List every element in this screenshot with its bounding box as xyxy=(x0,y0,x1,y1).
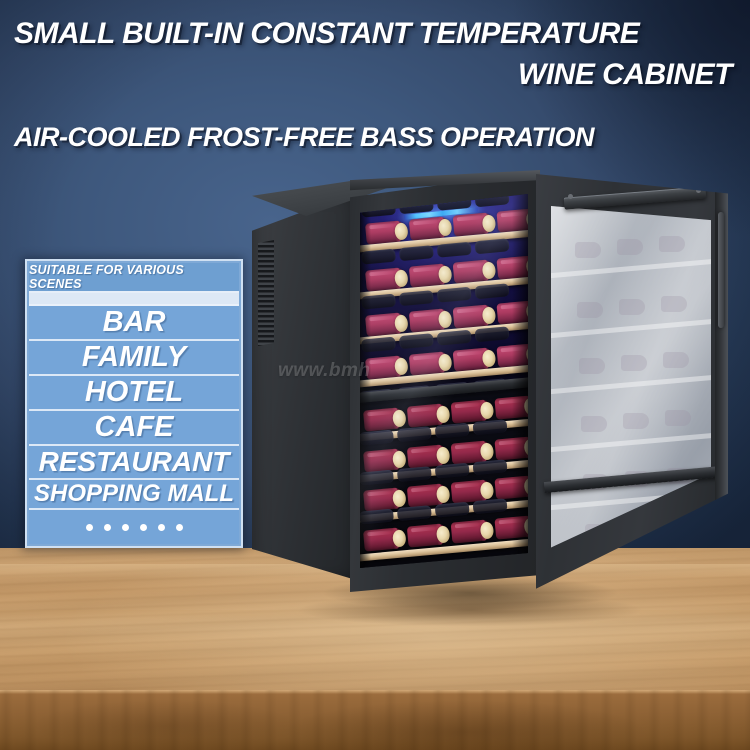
bottle-cap-icon xyxy=(436,405,450,423)
door-handle-bracket-icon xyxy=(696,188,701,193)
wine-bottle xyxy=(365,312,407,337)
bottle-cap-icon xyxy=(480,442,494,460)
bottle-cap-icon xyxy=(438,352,452,370)
door-ghost-bottle xyxy=(661,296,687,312)
scene-item-shopping-mall: SHOPPING MALL xyxy=(29,480,239,510)
interior-right-shading xyxy=(512,194,528,568)
ellipsis-dot-icon xyxy=(86,524,93,531)
cabinet-glass-door[interactable] xyxy=(536,174,728,606)
bottle-cap-icon xyxy=(438,218,452,236)
wine-bottle-back xyxy=(473,459,508,475)
bottle-highlight xyxy=(369,358,393,364)
bottle-highlight xyxy=(413,219,437,225)
ellipsis-dot-icon xyxy=(176,524,183,531)
ellipsis-dot-icon xyxy=(140,524,147,531)
door-ghost-bottle xyxy=(665,410,691,426)
bottle-highlight xyxy=(413,311,437,317)
scene-label: FAMILY xyxy=(82,343,186,372)
wine-bottle xyxy=(407,523,449,548)
wine-bottle-back xyxy=(397,427,432,443)
wine-bottle-back xyxy=(435,462,470,478)
scenes-panel-header: SUITABLE FOR VARIOUS SCENES xyxy=(29,263,239,293)
bottle-cap-icon xyxy=(436,524,450,542)
bottle-cap-icon xyxy=(482,348,496,366)
bottle-cap-icon xyxy=(438,309,452,327)
wine-bottle-back xyxy=(473,498,508,514)
headline-primary: SMALL BUILT-IN CONSTANT TEMPERATURE xyxy=(14,17,639,51)
scene-label: CAFE xyxy=(95,413,174,442)
wine-bottle-back xyxy=(475,283,510,299)
wine-bottle-back xyxy=(397,466,432,482)
door-ghost-bottle xyxy=(621,355,647,371)
headline-product-name: WINE CABINET xyxy=(518,58,732,92)
wine-bottle-back xyxy=(475,326,510,342)
scene-label: BAR xyxy=(103,308,166,337)
wine-bottle xyxy=(451,519,493,544)
bottle-cap-icon xyxy=(394,222,408,240)
wine-bottle xyxy=(451,399,493,424)
bottle-cap-icon xyxy=(438,265,452,283)
wine-bottle xyxy=(453,259,495,284)
wine-bottle xyxy=(453,304,495,329)
door-ghost-bottle xyxy=(577,302,603,318)
bottle-highlight xyxy=(457,307,481,313)
wine-bottle xyxy=(453,347,495,372)
scenes-panel-header-label: SUITABLE FOR VARIOUS SCENES xyxy=(29,263,239,291)
wine-bottle-back xyxy=(399,333,434,349)
bottle-highlight xyxy=(369,315,393,321)
headline-feature: AIR-COOLED FROST-FREE BASS OPERATION xyxy=(14,122,594,153)
wine-bottle-back xyxy=(437,330,472,346)
wine-bottle-back xyxy=(437,242,472,258)
bottle-highlight xyxy=(457,350,481,356)
door-ghost-bottle xyxy=(579,358,605,374)
wine-bottle-back xyxy=(397,505,432,521)
wine-bottle xyxy=(365,355,407,380)
wine-bottle xyxy=(365,267,407,292)
cabinet-vent-grille xyxy=(258,240,274,346)
wine-bottle xyxy=(409,308,451,333)
wine-bottle-back xyxy=(399,290,434,306)
bottle-highlight xyxy=(455,402,479,408)
bottle-cap-icon xyxy=(436,446,450,464)
wine-cabinet-product xyxy=(250,170,730,600)
cabinet-interior xyxy=(360,194,528,568)
wine-bottle xyxy=(409,263,451,288)
door-ghost-bottle xyxy=(617,239,643,255)
bottle-highlight xyxy=(413,354,437,360)
door-ghost-bottle xyxy=(663,352,689,368)
bottle-highlight xyxy=(369,270,393,276)
door-ghost-bottle xyxy=(619,299,645,315)
wine-bottle-back xyxy=(473,420,508,436)
wine-bottle-back xyxy=(437,287,472,303)
scenes-panel-more-dots xyxy=(29,510,239,544)
bottle-highlight xyxy=(455,522,479,528)
wine-bottle xyxy=(407,403,449,428)
scene-label: HOTEL xyxy=(85,378,183,407)
ellipsis-dot-icon xyxy=(104,524,111,531)
bottle-cap-icon xyxy=(480,401,494,419)
door-ghost-bottle xyxy=(659,236,685,252)
door-ghost-bottle xyxy=(581,416,607,432)
door-side-grip[interactable] xyxy=(718,212,724,328)
ellipsis-dot-icon xyxy=(158,524,165,531)
bottle-highlight xyxy=(413,266,437,272)
scene-item-restaurant: RESTAURANT xyxy=(29,446,239,480)
bottle-cap-icon xyxy=(394,269,408,287)
bottle-highlight xyxy=(457,262,481,268)
scene-label: SHOPPING MALL xyxy=(34,482,234,506)
wine-bottle-back xyxy=(475,238,510,254)
door-ghost-bottle xyxy=(575,242,601,258)
scene-item-family: FAMILY xyxy=(29,341,239,376)
bottle-highlight xyxy=(411,486,435,492)
scenes-panel-separator xyxy=(29,293,239,306)
bottle-cap-icon xyxy=(482,214,496,232)
bottle-cap-icon xyxy=(482,305,496,323)
bottle-highlight xyxy=(411,526,435,532)
ellipsis-dot-icon xyxy=(122,524,129,531)
scene-item-cafe: CAFE xyxy=(29,411,239,446)
wine-bottle-back xyxy=(399,245,434,261)
bottle-cap-icon xyxy=(392,450,406,468)
bottle-cap-icon xyxy=(392,528,406,546)
bottle-cap-icon xyxy=(482,261,496,279)
bottle-cap-icon xyxy=(394,313,408,331)
scenes-panel: SUITABLE FOR VARIOUS SCENES BAR FAMILY H… xyxy=(25,259,243,548)
wine-bottle-back xyxy=(435,502,470,518)
bottle-highlight xyxy=(411,447,435,453)
bottle-cap-icon xyxy=(394,356,408,374)
bottle-highlight xyxy=(411,406,435,412)
wine-bottle-back xyxy=(435,423,470,439)
wine-bottle xyxy=(409,351,451,376)
bottle-cap-icon xyxy=(480,520,494,538)
bottle-highlight xyxy=(457,215,481,221)
door-ghost-bottle xyxy=(623,413,649,429)
bottle-cap-icon xyxy=(392,409,406,427)
table-front-edge xyxy=(0,690,750,750)
bottle-highlight xyxy=(455,443,479,449)
table-edge-grain-texture xyxy=(0,690,750,750)
scene-item-hotel: HOTEL xyxy=(29,376,239,411)
bottle-highlight xyxy=(369,223,393,229)
bottle-highlight xyxy=(455,482,479,488)
product-banner: SMALL BUILT-IN CONSTANT TEMPERATURE WINE… xyxy=(0,0,750,750)
door-handle-bracket-icon xyxy=(568,194,573,199)
interior-left-shading xyxy=(360,194,371,568)
scene-item-bar: BAR xyxy=(29,306,239,341)
scene-label: RESTAURANT xyxy=(39,448,230,476)
